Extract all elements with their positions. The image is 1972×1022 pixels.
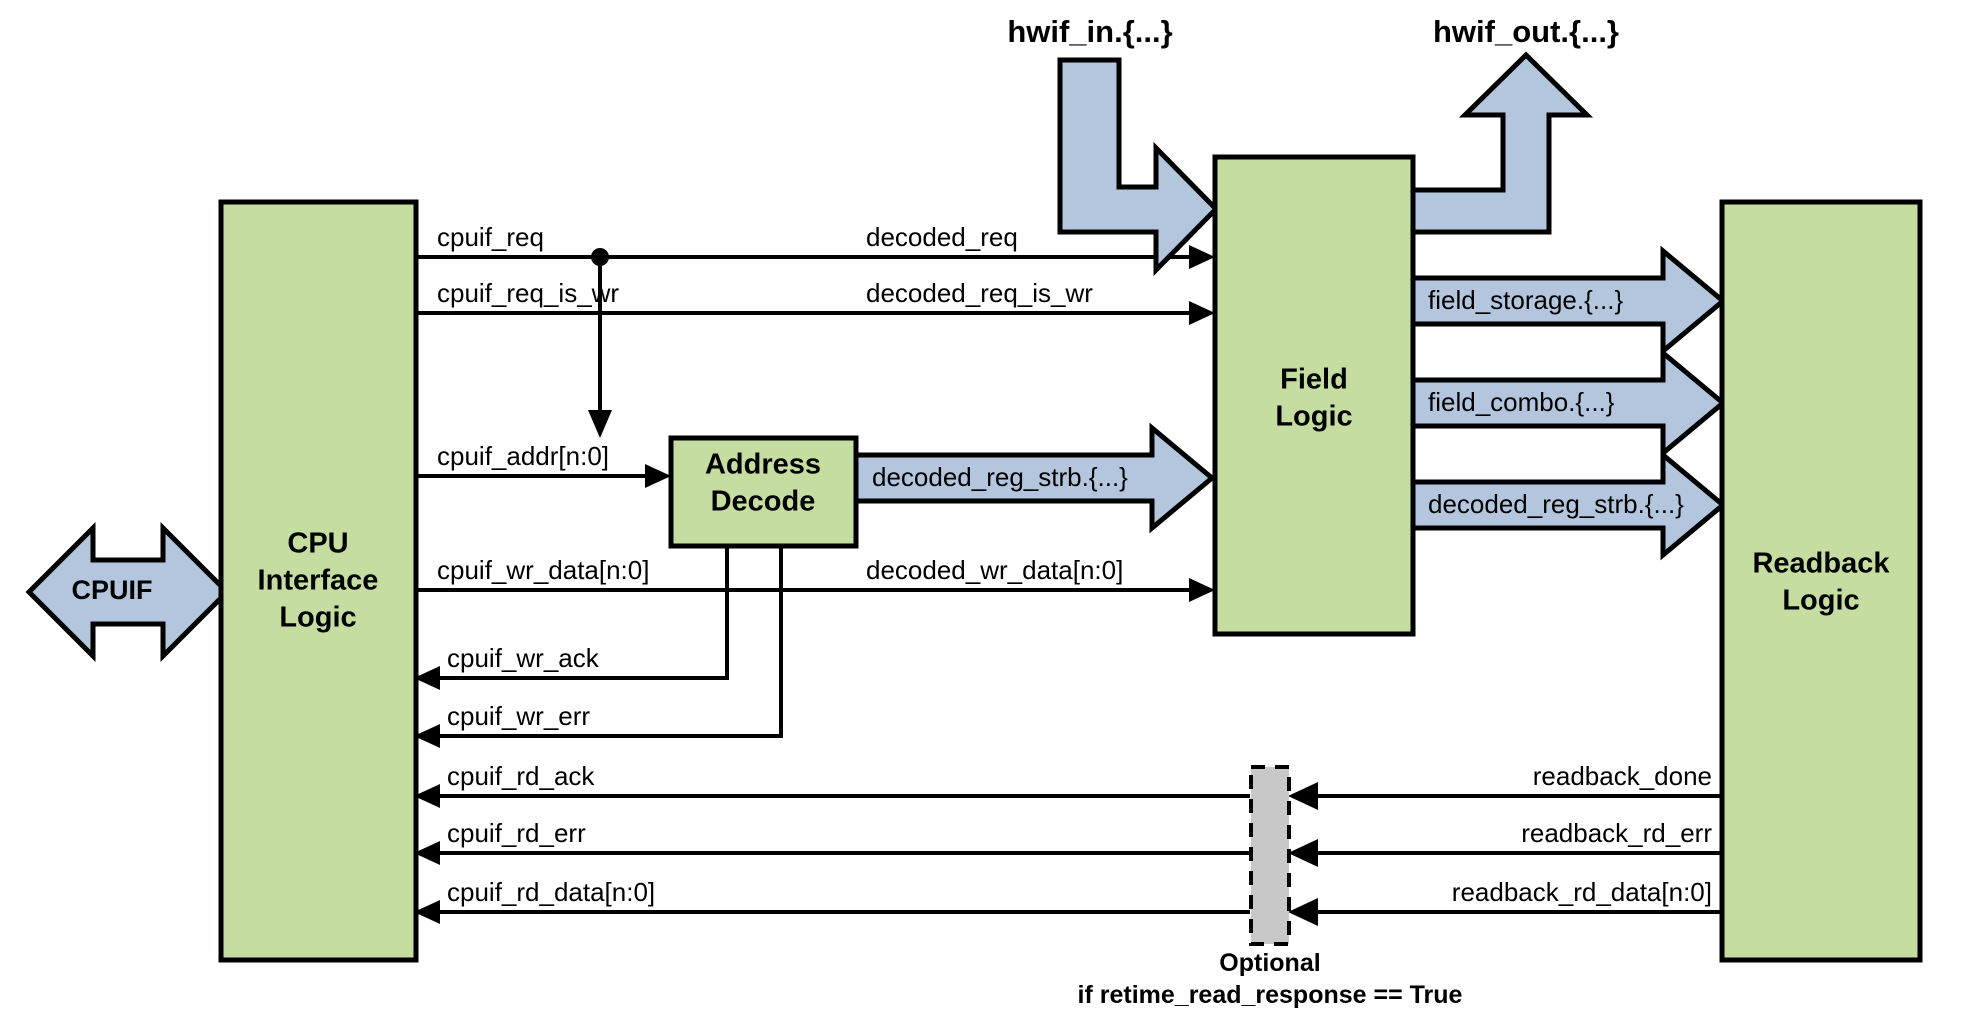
diagram-canvas: CPU Interface Logic Address Decode Field…	[0, 0, 1972, 1022]
hwif-out-label: hwif_out.{...}	[1433, 14, 1619, 49]
signal-label-readback-rd-data: readback_rd_data[n:0]	[1452, 877, 1712, 907]
signal-label-decoded-req-is-wr: decoded_req_is_wr	[866, 278, 1093, 308]
svg-text:Logic: Logic	[1275, 401, 1352, 433]
svg-text:Address: Address	[705, 449, 821, 481]
signal-label-cpuif-rd-data: cpuif_rd_data[n:0]	[447, 877, 655, 907]
junction-dot-cpuif-req	[591, 248, 609, 266]
signal-label-cpuif-req-is-wr: cpuif_req_is_wr	[437, 278, 619, 308]
signal-label-decoded-req: decoded_req	[866, 222, 1018, 252]
signal-label-cpuif-rd-err: cpuif_rd_err	[447, 818, 586, 848]
svg-text:Interface: Interface	[258, 565, 379, 597]
field-combo-label: field_combo.{...}	[1428, 387, 1615, 417]
svg-text:Optional: Optional	[1219, 949, 1320, 977]
arrowhead-readback-rd-data	[1288, 898, 1318, 926]
field-storage-label: field_storage.{...}	[1428, 285, 1623, 315]
signal-label-decoded-wr-data: decoded_wr_data[n:0]	[866, 555, 1123, 585]
arrowhead-readback-done	[1288, 782, 1318, 810]
svg-text:Logic: Logic	[279, 602, 356, 634]
hwif-out-bus-arrow	[1412, 55, 1587, 232]
svg-text:Logic: Logic	[1782, 585, 1859, 617]
block-readback-logic[interactable]	[1722, 202, 1920, 960]
signal-label-readback-done: readback_done	[1533, 761, 1712, 791]
decoded-reg-strb-field-label: decoded_reg_strb.{...}	[872, 462, 1128, 492]
signal-label-cpuif-wr-data: cpuif_wr_data[n:0]	[437, 555, 649, 585]
architecture-diagram: CPU Interface Logic Address Decode Field…	[0, 0, 1972, 1022]
signal-label-readback-rd-err: readback_rd_err	[1521, 818, 1712, 848]
hwif-in-bus-arrow	[1060, 60, 1216, 270]
signal-label-cpuif-wr-err: cpuif_wr_err	[447, 701, 590, 731]
hwif-in-label: hwif_in.{...}	[1007, 14, 1172, 49]
arrowhead-addr-decode-top	[588, 410, 612, 438]
signal-label-cpuif-req: cpuif_req	[437, 222, 544, 252]
svg-text:if retime_read_response == Tru: if retime_read_response == True	[1078, 981, 1463, 1009]
arrowhead-readback-rd-err	[1288, 839, 1318, 867]
svg-text:CPU: CPU	[287, 528, 348, 560]
arrowhead-decoded-req	[1189, 245, 1215, 269]
block-optional-retime[interactable]	[1251, 767, 1289, 944]
arrowhead-cpuif-addr	[645, 464, 671, 488]
cpuif-bus-arrow-label: CPUIF	[72, 575, 153, 605]
label-optional-retime: Optional if retime_read_response == True	[1078, 949, 1463, 1009]
svg-text:Decode: Decode	[711, 486, 816, 518]
svg-text:Field: Field	[1280, 364, 1348, 396]
signal-label-cpuif-rd-ack: cpuif_rd_ack	[447, 761, 595, 791]
signal-label-cpuif-addr: cpuif_addr[n:0]	[437, 441, 609, 471]
signal-label-cpuif-wr-ack: cpuif_wr_ack	[447, 643, 600, 673]
decoded-reg-strb-readback-label: decoded_reg_strb.{...}	[1428, 489, 1684, 519]
svg-text:Readback: Readback	[1752, 548, 1890, 580]
arrowhead-decoded-wr-data	[1189, 578, 1215, 602]
wire-cpuif-rd-ack	[414, 782, 1720, 810]
wire-cpuif-req	[415, 245, 1215, 438]
arrowhead-decoded-req-is-wr	[1189, 301, 1215, 325]
